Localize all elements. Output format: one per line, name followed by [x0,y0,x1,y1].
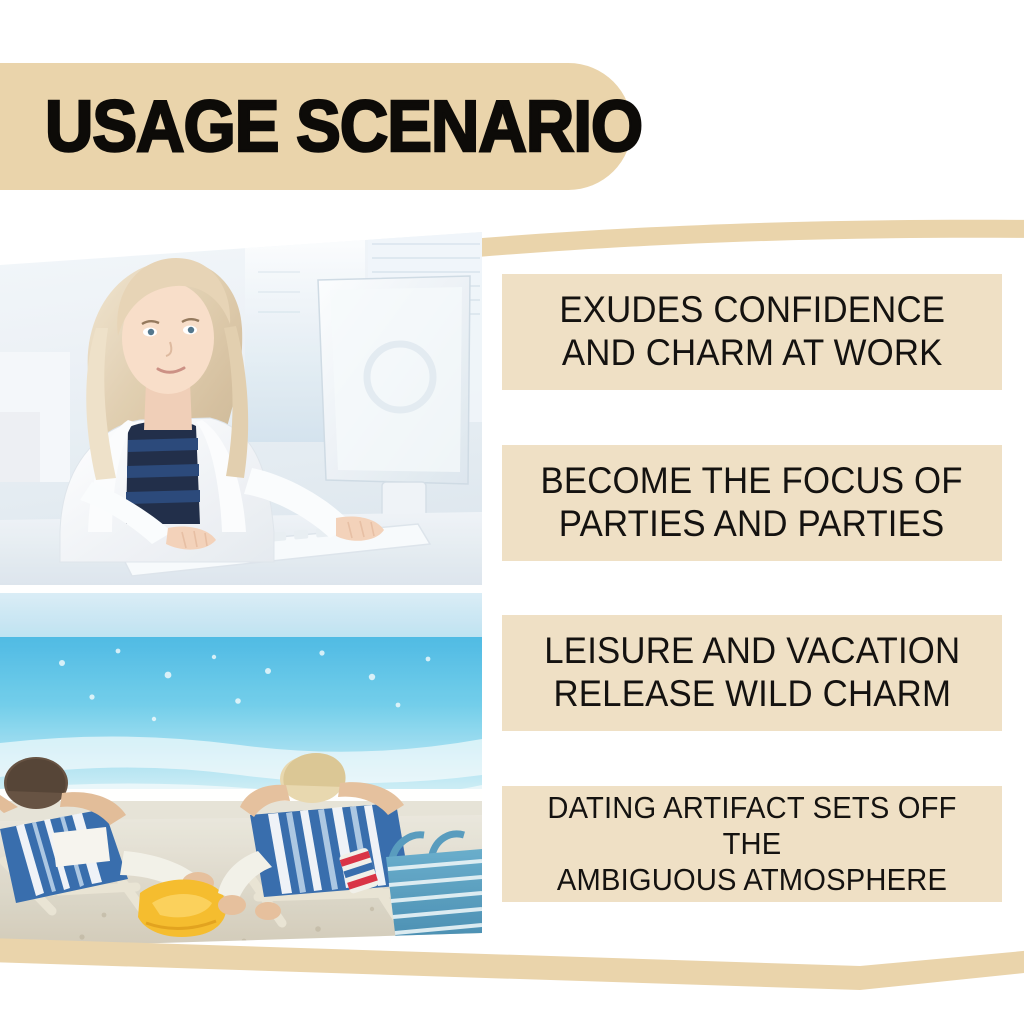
benefit-line-1: BECOME THE FOCUS OF [541,460,963,501]
benefit-box-parties: BECOME THE FOCUS OF PARTIES AND PARTIES [502,445,1002,561]
benefit-text-work: EXUDES CONFIDENCE AND CHARM AT WORK [546,289,958,375]
benefit-text-leisure: LEISURE AND VACATION RELEASE WILD CHARM [531,630,973,716]
benefit-line-2: AND CHARM AT WORK [562,332,943,373]
benefit-box-dating: DATING ARTIFACT SETS OFF THE AMBIGUOUS A… [502,786,1002,902]
beach-scene-illustration [0,593,482,948]
usage-scenario-poster: USAGE SCENARIO [0,0,1024,1024]
photo-beach-deck-chairs [0,593,482,948]
office-scene-illustration [0,232,482,585]
benefit-line-1: LEISURE AND VACATION [544,630,960,671]
page-title: USAGE SCENARIO [45,91,642,163]
photo-office-woman-at-computer [0,232,482,585]
benefit-line-2: RELEASE WILD CHARM [553,673,951,714]
benefit-line-2: PARTIES AND PARTIES [559,503,945,544]
header-banner: USAGE SCENARIO [0,63,632,190]
benefit-text-parties: BECOME THE FOCUS OF PARTIES AND PARTIES [528,460,977,546]
benefit-box-leisure: LEISURE AND VACATION RELEASE WILD CHARM [502,615,1002,731]
benefit-box-work: EXUDES CONFIDENCE AND CHARM AT WORK [502,274,1002,390]
benefit-line-2: AMBIGUOUS ATMOSPHERE [557,862,947,897]
benefit-line-1: EXUDES CONFIDENCE [559,289,945,330]
benefit-line-1: DATING ARTIFACT SETS OFF THE [547,790,956,861]
benefit-text-dating: DATING ARTIFACT SETS OFF THE AMBIGUOUS A… [517,790,987,898]
